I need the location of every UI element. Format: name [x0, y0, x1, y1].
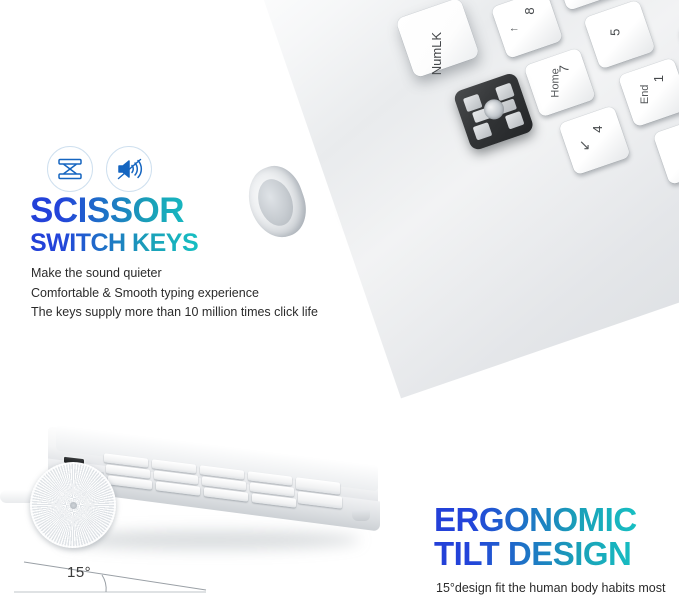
ergonomic-subtitle: 15°design fit the human body habits most — [436, 581, 665, 595]
tilt-angle-diagram: 15° — [10, 556, 210, 600]
scissor-feature-bullets: Make the sound quieter Comfortable & Smo… — [31, 264, 318, 323]
key-label: 5 — [608, 29, 623, 36]
scissor-title-line2: SWITCH KEYS — [30, 231, 198, 256]
keycap-label: NumLK — [429, 32, 444, 75]
key-4-left: 4 ↙ — [558, 105, 630, 175]
ergonomic-title-line1: ERGONOMIC — [434, 503, 637, 536]
scissor-bullet-3: The keys supply more than 10 million tim… — [31, 303, 318, 323]
key-sublabel: End — [639, 85, 651, 105]
key-7-home: 7 Home — [524, 48, 596, 118]
angle-arc — [102, 575, 106, 592]
angle-upper-line — [24, 562, 206, 590]
product-photo-side-profile — [0, 434, 420, 574]
scissor-bullet-1: Make the sound quieter — [31, 264, 318, 284]
key-label: 4 — [590, 126, 605, 133]
ergonomic-title-line2: TILT DESIGN — [434, 537, 637, 570]
product-photo-keypad-macro: * ← − 9 PgUp 8 ↑ 6 7 Home — [248, 0, 679, 434]
ergonomic-feature-heading: ERGONOMIC TILT DESIGN — [434, 503, 637, 570]
scissor-title-line1: SCISSOR — [30, 193, 198, 228]
keypad-foot — [352, 510, 370, 521]
scissor-feature-heading: SCISSOR SWITCH KEYS — [30, 193, 198, 256]
scissor-switch-icon — [47, 146, 93, 192]
key-1-end: 1 End — [618, 57, 679, 127]
key-label: 1 — [651, 75, 666, 82]
key-sublabel: ↑ — [508, 27, 520, 33]
key-sublabel: ↙ — [576, 140, 593, 152]
key-8-up: 8 ↑ — [491, 0, 563, 59]
key-5: 5 — [583, 0, 655, 69]
aluminium-dial-knob — [30, 462, 116, 548]
chassis-left-endcap — [240, 159, 314, 245]
scissor-bullet-2: Comfortable & Smooth typing experience — [31, 284, 318, 304]
infographic-canvas: * ← − 9 PgUp 8 ↑ 6 7 Home — [0, 0, 679, 607]
keypad-chassis: * ← − 9 PgUp 8 ↑ 6 7 Home — [248, 0, 679, 398]
key-sublabel: Home — [549, 68, 561, 97]
key-label: 8 — [522, 7, 537, 14]
key-0: 0 — [653, 115, 679, 185]
exposed-scissor-switch — [452, 72, 535, 152]
removed-numlk-keycap: NumLK — [395, 0, 479, 78]
angle-label: 15° — [67, 564, 91, 581]
scissor-feature-icons — [47, 146, 152, 192]
mute-speaker-icon — [106, 146, 152, 192]
